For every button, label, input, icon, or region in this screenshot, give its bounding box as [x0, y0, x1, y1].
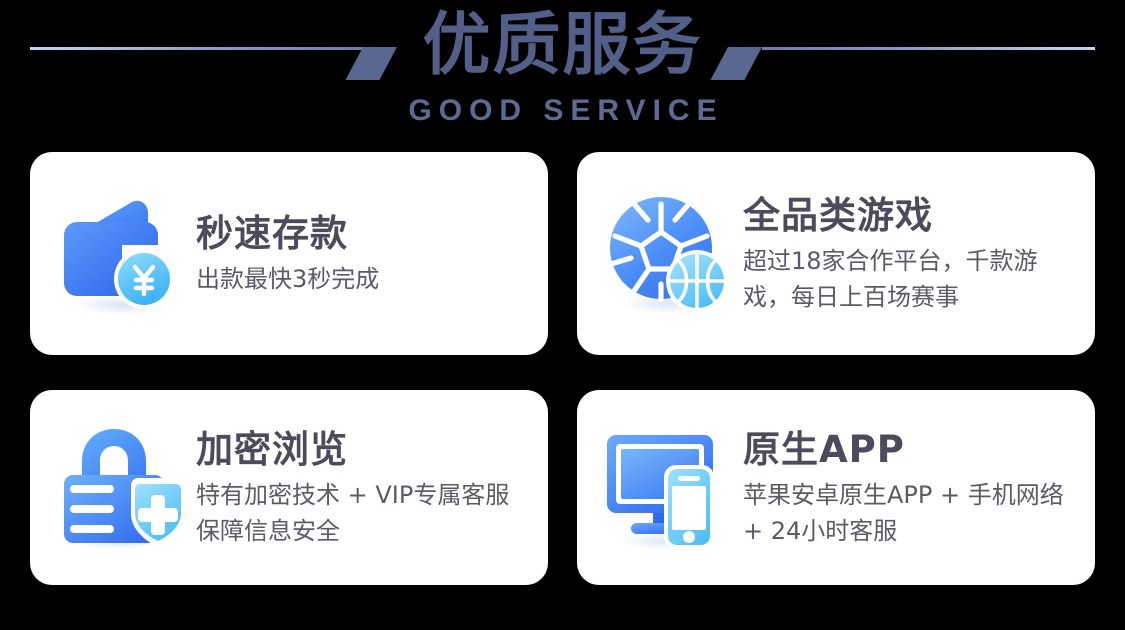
card-title: 加密浏览 [196, 427, 526, 473]
header-title-block: 优质服务 GOOD SERVICE [0, 0, 1125, 130]
card-description: 苹果安卓原生APP + 手机网络 + 24小时客服 [743, 477, 1073, 549]
feature-card-native-app[interactable]: 原生APP 苹果安卓原生APP + 手机网络 + 24小时客服 [577, 390, 1095, 585]
page-header: 优质服务 GOOD SERVICE [0, 0, 1125, 148]
card-text-block: 全品类游戏 超过18家合作平台，千款游戏，每日上百场赛事 [743, 193, 1073, 315]
lock-shield-icon [56, 422, 188, 554]
card-description: 出款最快3秒完成 [196, 261, 526, 297]
card-text-block: 秒速存款 出款最快3秒完成 [196, 211, 526, 297]
feature-card-grid: 秒速存款 出款最快3秒完成 [30, 152, 1095, 585]
card-text-block: 原生APP 苹果安卓原生APP + 手机网络 + 24小时客服 [743, 427, 1073, 549]
feature-card-games[interactable]: 全品类游戏 超过18家合作平台，千款游戏，每日上百场赛事 [577, 152, 1095, 355]
page-title: 优质服务 [0, 0, 1125, 92]
card-title: 秒速存款 [196, 211, 526, 257]
card-title: 原生APP [743, 427, 1073, 473]
wallet-icon [56, 188, 188, 320]
devices-icon [603, 422, 735, 554]
sports-ball-icon [603, 188, 735, 320]
card-title: 全品类游戏 [743, 193, 1073, 239]
page-subtitle: GOOD SERVICE [0, 92, 1125, 130]
card-description: 特有加密技术 + VIP专属客服保障信息安全 [196, 477, 526, 549]
card-text-block: 加密浏览 特有加密技术 + VIP专属客服保障信息安全 [196, 427, 526, 549]
feature-card-deposit[interactable]: 秒速存款 出款最快3秒完成 [30, 152, 548, 355]
feature-card-encryption[interactable]: 加密浏览 特有加密技术 + VIP专属客服保障信息安全 [30, 390, 548, 585]
card-description: 超过18家合作平台，千款游戏，每日上百场赛事 [743, 243, 1073, 315]
